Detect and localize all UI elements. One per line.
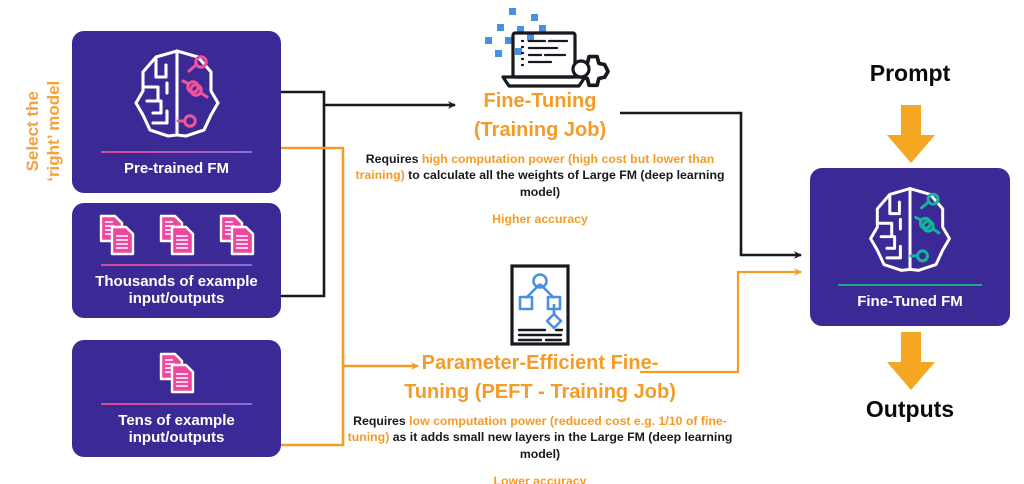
- card-divider: [101, 403, 252, 405]
- card-label: Fine-Tuned FM: [857, 293, 963, 311]
- documents-icon: [158, 213, 196, 257]
- diagram-canvas: Select the ‘right’ model: [0, 0, 1024, 484]
- card-fine-tuned-fm[interactable]: Fine-Tuned FM: [810, 168, 1010, 326]
- brain-circuit-icon: [858, 179, 962, 279]
- branch-peft: Parameter-Efficient Fine- Tuning (PEFT -…: [345, 262, 735, 484]
- branch-title-line2: (Training Job): [355, 117, 725, 143]
- desc-part2: to calculate all the weights of Large FM…: [405, 168, 725, 198]
- branch-title-line2: Tuning (PEFT - Training Job): [345, 379, 735, 405]
- card-pre-trained-fm[interactable]: Pre-trained FM: [72, 31, 281, 193]
- card-icon-area: [80, 213, 273, 258]
- card-tens-examples[interactable]: Tens of example input/outputs: [72, 340, 281, 457]
- document-graph-icon: [499, 262, 581, 352]
- documents-icon: [98, 213, 136, 257]
- documents-icon: [158, 351, 196, 395]
- branch-title: Parameter-Efficient Fine- Tuning (PEFT -…: [345, 350, 735, 405]
- outputs-label: Outputs: [810, 396, 1010, 423]
- desc-part2: as it adds small new layers in the Large…: [389, 430, 732, 460]
- prompt-arrow-icon: [885, 105, 937, 167]
- outputs-arrow-icon: [885, 332, 937, 394]
- branch-description: Requires high computation power (high co…: [355, 151, 725, 200]
- card-divider: [838, 284, 982, 286]
- desc-part1: Requires: [366, 152, 422, 166]
- card-thousands-examples[interactable]: Thousands of example input/outputs: [72, 203, 281, 318]
- card-divider: [101, 151, 252, 153]
- card-label: Pre-trained FM: [124, 160, 229, 178]
- card-icon-area: [818, 180, 1002, 278]
- branch-title: Fine-Tuning (Training Job): [355, 88, 725, 143]
- branch-title-line1: Parameter-Efficient Fine-: [345, 350, 735, 376]
- card-icon-area: [80, 350, 273, 397]
- branch-title-line1: Fine-Tuning: [355, 88, 725, 114]
- documents-icon: [218, 213, 256, 257]
- prompt-label: Prompt: [810, 60, 1010, 87]
- desc-part1: Requires: [353, 414, 409, 428]
- card-label: Thousands of example input/outputs: [95, 273, 258, 308]
- laptop-gear-icon: [477, 4, 603, 90]
- card-icon-area: [80, 41, 273, 145]
- brain-circuit-icon: [123, 41, 231, 145]
- branch-accuracy: Higher accuracy: [355, 212, 725, 226]
- card-divider: [101, 264, 252, 266]
- branch-accuracy: Lower accuracy: [345, 474, 735, 484]
- branch-fine-tuning: Fine-Tuning (Training Job) Requires high…: [355, 4, 725, 226]
- branch-description: Requires low computation power (reduced …: [345, 413, 735, 462]
- card-label: Tens of example input/outputs: [118, 412, 234, 447]
